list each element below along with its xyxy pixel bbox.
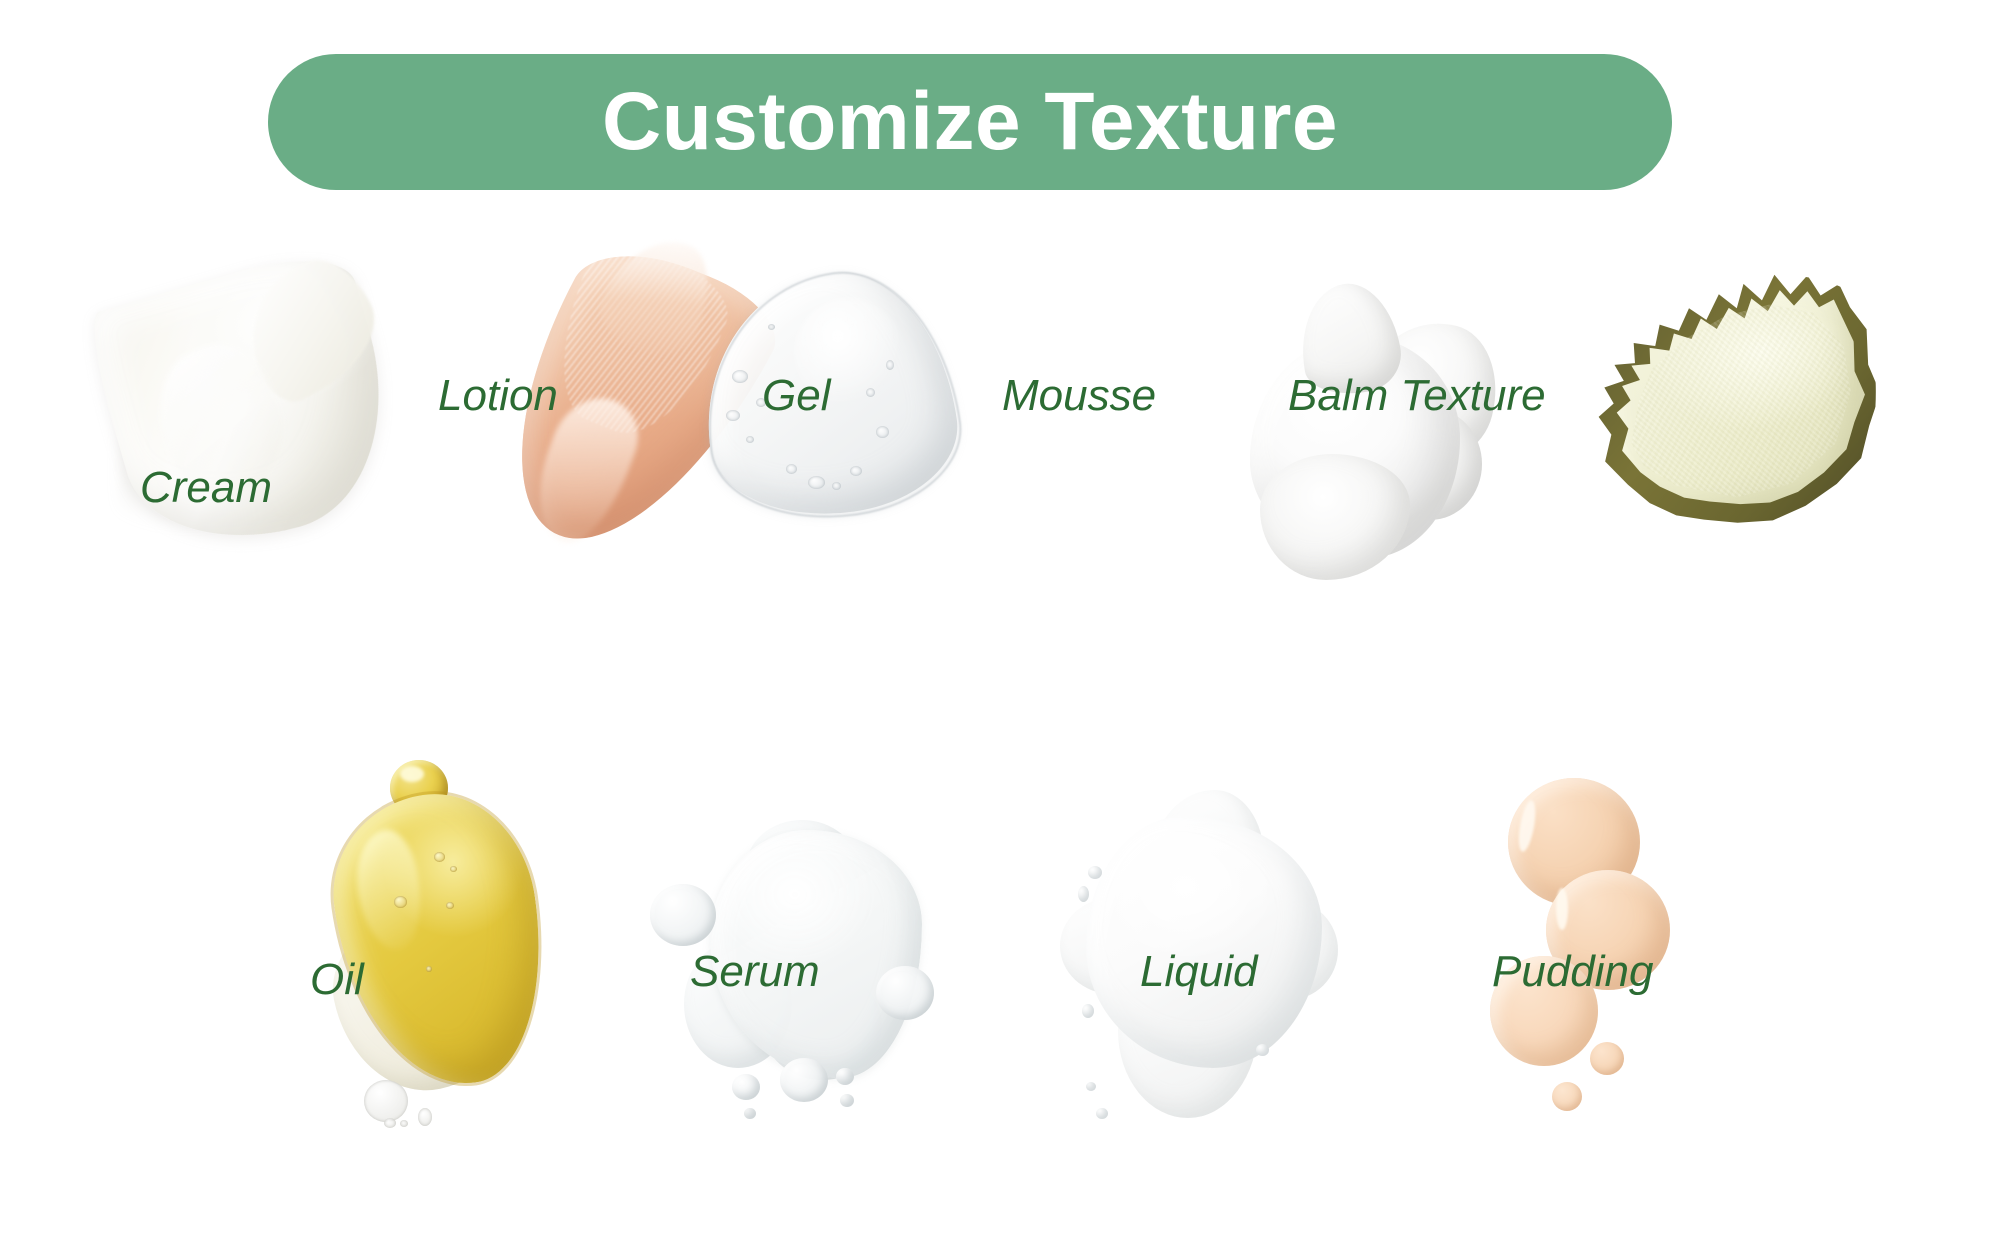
oil-mini-drop xyxy=(384,1118,396,1128)
texture-swatch-serum[interactable] xyxy=(650,820,960,1120)
gel-bubble xyxy=(756,398,766,407)
gel-bubble xyxy=(746,436,754,443)
header-banner: Customize Texture xyxy=(268,54,1672,190)
gel-bubble xyxy=(808,476,825,489)
gel-bubble xyxy=(732,370,748,383)
oil-bubble xyxy=(394,896,407,908)
liquid-body xyxy=(1086,816,1322,1068)
pudding-artwork xyxy=(1490,760,1770,1120)
serum-droplet xyxy=(836,1068,854,1085)
oil-mini-drop xyxy=(364,1080,408,1122)
gel-bubble xyxy=(876,426,889,438)
oil-bubble xyxy=(426,966,432,972)
oil-artwork xyxy=(330,760,600,1140)
texture-swatch-oil[interactable] xyxy=(330,760,600,1140)
liquid-droplet xyxy=(1096,1108,1108,1119)
gel-artwork xyxy=(690,268,980,528)
texture-swatch-pudding[interactable] xyxy=(1490,760,1770,1120)
liquid-droplet xyxy=(1256,1044,1269,1056)
page-title: Customize Texture xyxy=(602,81,1338,163)
serum-artwork xyxy=(650,820,960,1120)
oil-bubble xyxy=(434,852,445,862)
gel-highlight xyxy=(794,298,904,408)
oil-small-drop-highlight xyxy=(400,766,424,782)
mousse-artwork xyxy=(1230,280,1520,580)
pudding-drop-bottom-left xyxy=(1490,956,1598,1066)
serum-droplet xyxy=(876,966,934,1020)
texture-swatch-mousse[interactable] xyxy=(1230,280,1520,580)
serum-droplet xyxy=(732,1074,760,1100)
pudding-mini-drop-lower xyxy=(1552,1082,1582,1111)
mousse-lobe-bottom xyxy=(1260,454,1410,580)
gel-bubble xyxy=(786,464,797,474)
pudding-mini-drop-upper xyxy=(1590,1042,1624,1075)
texture-swatch-gel[interactable] xyxy=(690,268,980,528)
serum-droplet xyxy=(840,1094,854,1107)
balm-artwork xyxy=(1582,270,1892,540)
pudding-drop-middle-highlight xyxy=(1556,888,1568,930)
texture-swatch-balm[interactable] xyxy=(1582,270,1892,540)
texture-swatch-liquid[interactable] xyxy=(1060,790,1360,1130)
texture-label-mousse: Mousse xyxy=(1002,374,1156,418)
cream-artwork xyxy=(95,260,405,550)
gel-bubble xyxy=(886,360,894,370)
oil-mini-drop xyxy=(418,1108,432,1126)
serum-droplet xyxy=(780,1058,828,1102)
oil-bubble xyxy=(450,866,457,872)
serum-droplet xyxy=(650,884,716,946)
liquid-droplet xyxy=(1086,1082,1096,1091)
liquid-droplet xyxy=(1088,866,1102,879)
gel-bubble xyxy=(768,324,775,330)
gel-bubble xyxy=(726,410,740,421)
gel-bubble xyxy=(850,466,862,476)
liquid-droplet xyxy=(1082,1004,1094,1018)
gel-bubble xyxy=(866,388,875,397)
serum-droplet xyxy=(744,1108,756,1119)
liquid-droplet xyxy=(1078,886,1089,902)
liquid-artwork xyxy=(1060,790,1360,1130)
oil-mini-drop xyxy=(400,1120,408,1127)
oil-bubble xyxy=(446,902,454,909)
gel-bubble xyxy=(832,482,841,490)
texture-swatch-cream[interactable] xyxy=(95,260,405,550)
